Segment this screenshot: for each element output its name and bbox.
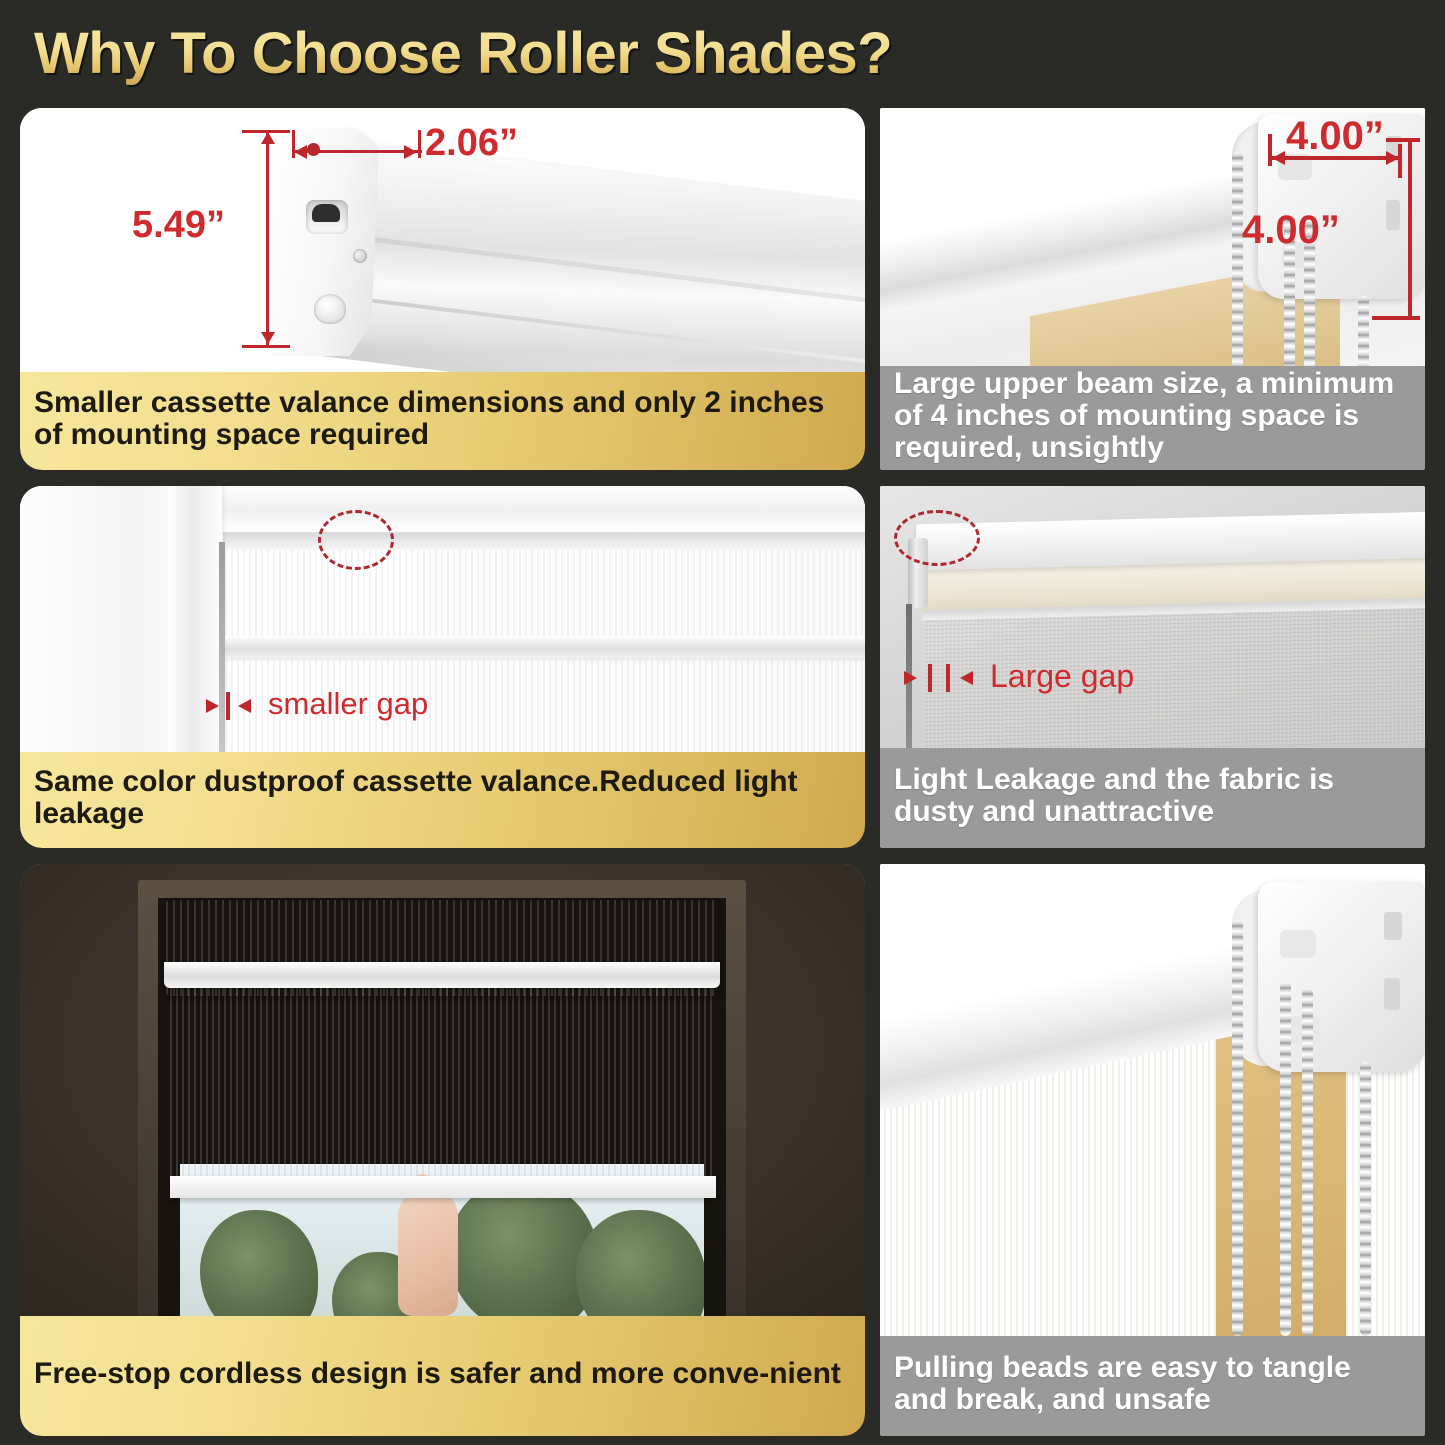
width-dimension-tick-right bbox=[418, 130, 421, 158]
panel-5-caption-bar: Free-stop cordless design is safer and m… bbox=[20, 1316, 865, 1436]
bead-chain-back bbox=[1302, 988, 1313, 1336]
beam-width-label: 4.00” bbox=[1286, 114, 1384, 159]
height-arrow-down bbox=[261, 332, 275, 344]
bead-chain-front bbox=[1232, 152, 1243, 366]
gap-highlight-circle bbox=[318, 510, 394, 570]
panel-1-caption-bar: Smaller cassette valance dimensions and … bbox=[20, 372, 865, 470]
bracket-slot-lower bbox=[1386, 200, 1400, 230]
panel-6-caption-text: Pulling beads are easy to tangle and bre… bbox=[894, 1352, 1411, 1416]
bead-chain-illustration bbox=[880, 864, 1425, 1336]
room-window-illustration bbox=[20, 864, 865, 1316]
shade-fabric bbox=[170, 988, 716, 1184]
beam-height-tick-bottom bbox=[1372, 316, 1420, 320]
shade-bottom-rail bbox=[170, 1176, 716, 1198]
bead-chain-loop bbox=[1358, 296, 1369, 366]
large-gap-label: Large gap bbox=[990, 658, 1134, 695]
bracket-slot-upper bbox=[1384, 912, 1402, 940]
gap-arrow-right bbox=[904, 671, 917, 685]
cassette-valance-illustration: 5.49” 2.06” bbox=[20, 108, 865, 372]
height-arrow-up bbox=[261, 132, 275, 144]
panel-cordless-design[interactable]: Free-stop cordless design is safer and m… bbox=[20, 864, 865, 1436]
bracket-slot-lower bbox=[1384, 978, 1400, 1010]
page-header: Why To Choose Roller Shades? bbox=[34, 20, 1034, 92]
panel-6-image bbox=[880, 864, 1425, 1336]
cassette-valance-lip bbox=[164, 962, 720, 988]
gap-arrow-left bbox=[238, 699, 251, 713]
tree-far-right bbox=[576, 1210, 704, 1316]
panel-1-image: 5.49” 2.06” bbox=[20, 108, 865, 372]
end-cap-screw-upper bbox=[353, 249, 367, 263]
beam-height-dimension-line bbox=[1408, 138, 1412, 320]
width-dimension-label: 2.06” bbox=[425, 122, 518, 165]
edge-gap-strip bbox=[219, 542, 225, 752]
panel-2-caption-bar: Large upper beam size, a minimum of 4 in… bbox=[880, 366, 1425, 470]
height-dimension-line bbox=[266, 130, 269, 348]
end-cap-slot bbox=[306, 200, 348, 234]
height-dimension-tick-bottom bbox=[242, 345, 290, 348]
panel-large-upper-beam[interactable]: 4.00” 4.00” Large upper beam size, a min… bbox=[880, 108, 1425, 470]
gap-highlight-circle bbox=[894, 510, 980, 566]
beam-height-tick-top bbox=[1386, 138, 1420, 142]
beam-height-label: 4.00” bbox=[1242, 208, 1340, 253]
gap-arrow-left bbox=[960, 671, 973, 685]
panel-2-image: 4.00” 4.00” bbox=[880, 108, 1425, 366]
height-dimension-label: 5.49” bbox=[132, 204, 225, 247]
window-frame-illustration: smaller gap bbox=[20, 486, 865, 752]
width-arrow-right bbox=[404, 145, 417, 159]
panel-smaller-cassette[interactable]: 5.49” 2.06” Smaller cassette valance dim… bbox=[20, 108, 865, 470]
window-frame-top bbox=[170, 486, 865, 532]
page-title: Why To Choose Roller Shades? bbox=[34, 20, 1034, 87]
light-leakage-illustration: Large gap bbox=[880, 486, 1425, 748]
bead-chain-loop bbox=[1360, 1062, 1371, 1336]
shade-upper-band bbox=[225, 546, 865, 636]
beam-width-arrow-left bbox=[1272, 151, 1285, 165]
tree-right bbox=[448, 1180, 598, 1316]
panel-4-caption-bar: Light Leakage and the fabric is dusty an… bbox=[880, 748, 1425, 848]
comparison-grid: 5.49” 2.06” Smaller cassette valance dim… bbox=[0, 108, 1445, 1445]
bead-chain-middle bbox=[1280, 982, 1291, 1336]
gap-measure-bar-a bbox=[928, 664, 932, 692]
large-beam-illustration: 4.00” 4.00” bbox=[880, 108, 1425, 366]
panel-3-caption-bar: Same color dustproof cassette valance.Re… bbox=[20, 752, 865, 848]
panel-light-leakage[interactable]: Large gap Light Leakage and the fabric i… bbox=[880, 486, 1425, 848]
width-arrow-left bbox=[294, 145, 307, 159]
gap-arrow-right bbox=[206, 699, 219, 713]
beam-width-arrow-right bbox=[1386, 151, 1399, 165]
panel-1-caption-text: Smaller cassette valance dimensions and … bbox=[34, 387, 851, 451]
width-dimension-line bbox=[292, 150, 422, 153]
panel-3-caption-text: Same color dustproof cassette valance.Re… bbox=[34, 766, 851, 830]
panel-5-caption-text: Free-stop cordless design is safer and m… bbox=[34, 1358, 851, 1390]
gap-measure-bar-b bbox=[946, 664, 950, 692]
panel-4-image: Large gap bbox=[880, 486, 1425, 748]
hand-raising-shade bbox=[398, 1190, 458, 1316]
bracket-emboss-upper bbox=[1280, 930, 1316, 958]
panel-4-caption-text: Light Leakage and the fabric is dusty an… bbox=[894, 764, 1411, 828]
panel-pulling-beads[interactable]: Pulling beads are easy to tangle and bre… bbox=[880, 864, 1425, 1436]
panel-5-image bbox=[20, 864, 865, 1316]
smaller-gap-label: smaller gap bbox=[268, 686, 428, 722]
bead-chain-front bbox=[1232, 920, 1243, 1336]
gap-measure-bar bbox=[226, 692, 230, 720]
panel-6-caption-bar: Pulling beads are easy to tangle and bre… bbox=[880, 1336, 1425, 1436]
shade-middle-rail bbox=[225, 636, 865, 658]
panel-2-caption-text: Large upper beam size, a minimum of 4 in… bbox=[894, 368, 1411, 463]
panel-3-image: smaller gap bbox=[20, 486, 865, 752]
tree-left bbox=[200, 1210, 318, 1316]
panel-dustproof-valance[interactable]: smaller gap Same color dustproof cassett… bbox=[20, 486, 865, 848]
end-cap-screw-lower bbox=[314, 294, 346, 324]
